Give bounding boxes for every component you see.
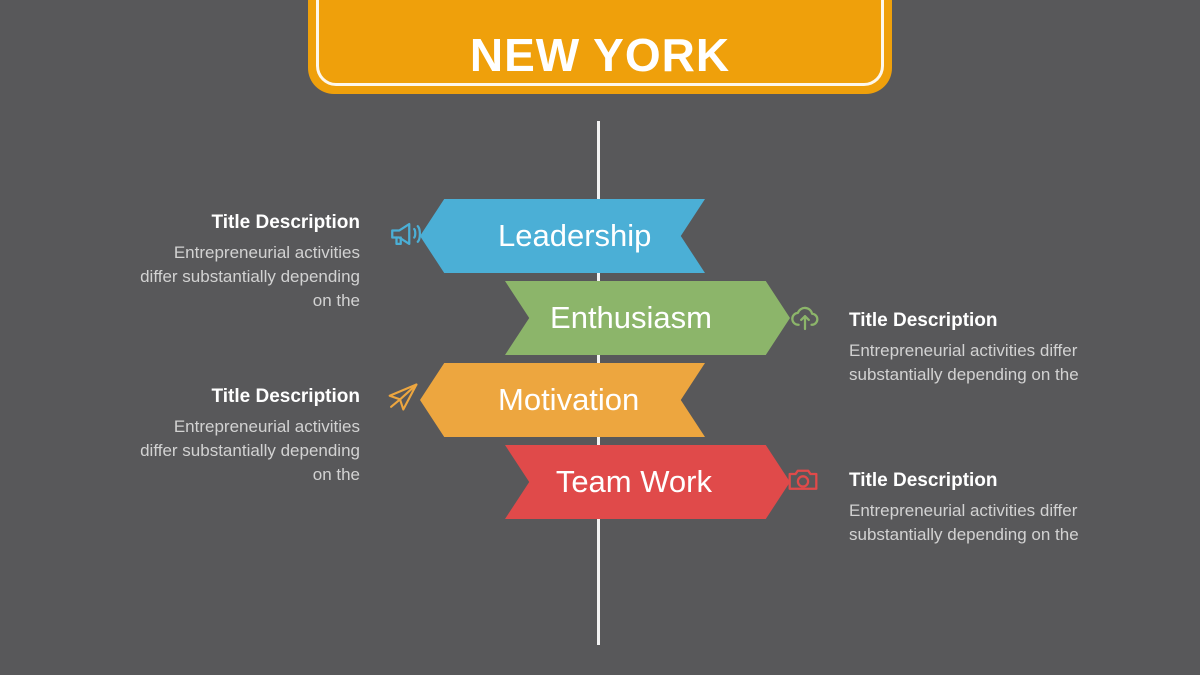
description-block-enthusiasm: Title Description Entrepreneurial activi… xyxy=(849,309,1084,387)
ribbon-leadership[interactable]: Leadership xyxy=(420,199,705,273)
ribbon-enthusiasm[interactable]: Enthusiasm xyxy=(505,281,790,355)
description-body: Entrepreneurial activities differ substa… xyxy=(849,339,1084,387)
description-body: Entrepreneurial activities differ substa… xyxy=(849,499,1084,547)
ribbon-label-motivation: Motivation xyxy=(498,382,639,418)
description-title: Title Description xyxy=(132,385,360,409)
description-block-motivation: Title Description Entrepreneurial activi… xyxy=(132,385,360,487)
description-title: Title Description xyxy=(849,309,1084,333)
ribbon-label-enthusiasm: Enthusiasm xyxy=(550,300,712,336)
description-block-team-work: Title Description Entrepreneurial activi… xyxy=(849,469,1084,547)
camera-icon xyxy=(786,463,820,497)
description-title: Title Description xyxy=(849,469,1084,493)
ribbon-label-team-work: Team Work xyxy=(556,464,712,500)
paper-plane-icon xyxy=(386,380,420,414)
ribbon-label-leadership: Leadership xyxy=(498,218,651,254)
slide-canvas: NEW YORK Leadership Enthusiasm Motivatio… xyxy=(0,0,1200,675)
page-title: NEW YORK xyxy=(308,32,892,78)
title-banner: NEW YORK xyxy=(308,0,892,94)
description-block-leadership: Title Description Entrepreneurial activi… xyxy=(132,211,360,313)
ribbon-team-work[interactable]: Team Work xyxy=(505,445,790,519)
cloud-upload-icon xyxy=(788,300,822,334)
description-body: Entrepreneurial activities differ substa… xyxy=(132,415,360,487)
megaphone-icon xyxy=(388,217,422,251)
ribbon-motivation[interactable]: Motivation xyxy=(420,363,705,437)
description-title: Title Description xyxy=(132,211,360,235)
description-body: Entrepreneurial activities differ substa… xyxy=(132,241,360,313)
